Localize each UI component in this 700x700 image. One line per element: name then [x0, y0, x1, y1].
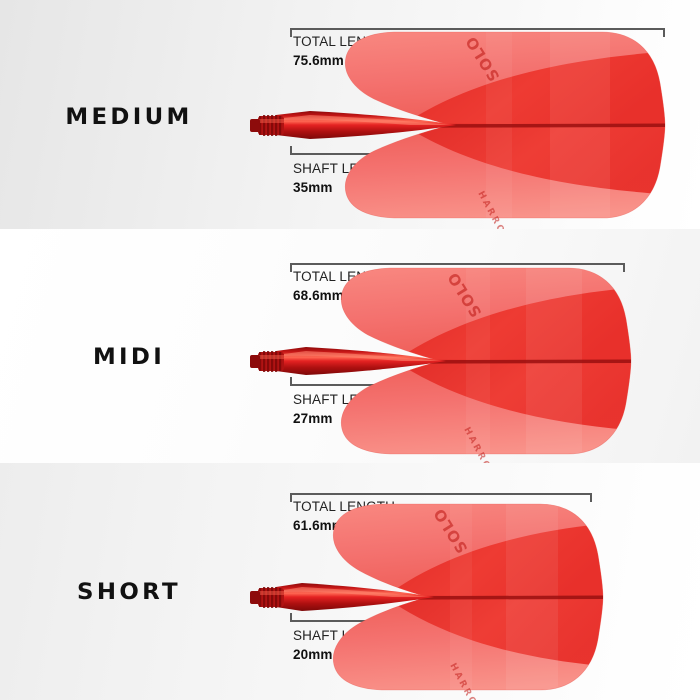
panel-midi: MIDI TOTAL LENGTH 68.6mm SHAFT LENGTH 27… [0, 229, 700, 463]
dart-short: SOLO HARROWS [250, 487, 615, 700]
panel-short: SHORT TOTAL LENGTH 61.6mm SHAFT LENGTH 2… [0, 463, 700, 700]
dart-medium: SOLO HARROWS [250, 15, 680, 229]
dart-size-comparison-page: MEDIUM TOTAL LENGTH 75.6mm SHAFT LENGTH … [0, 0, 700, 700]
size-label-medium: MEDIUM [0, 105, 263, 130]
size-label-midi: MIDI [0, 345, 263, 370]
dart-midi: SOLO HARROWS [250, 251, 645, 463]
size-label-short: SHORT [0, 580, 263, 605]
panel-medium: MEDIUM TOTAL LENGTH 75.6mm SHAFT LENGTH … [0, 0, 700, 229]
